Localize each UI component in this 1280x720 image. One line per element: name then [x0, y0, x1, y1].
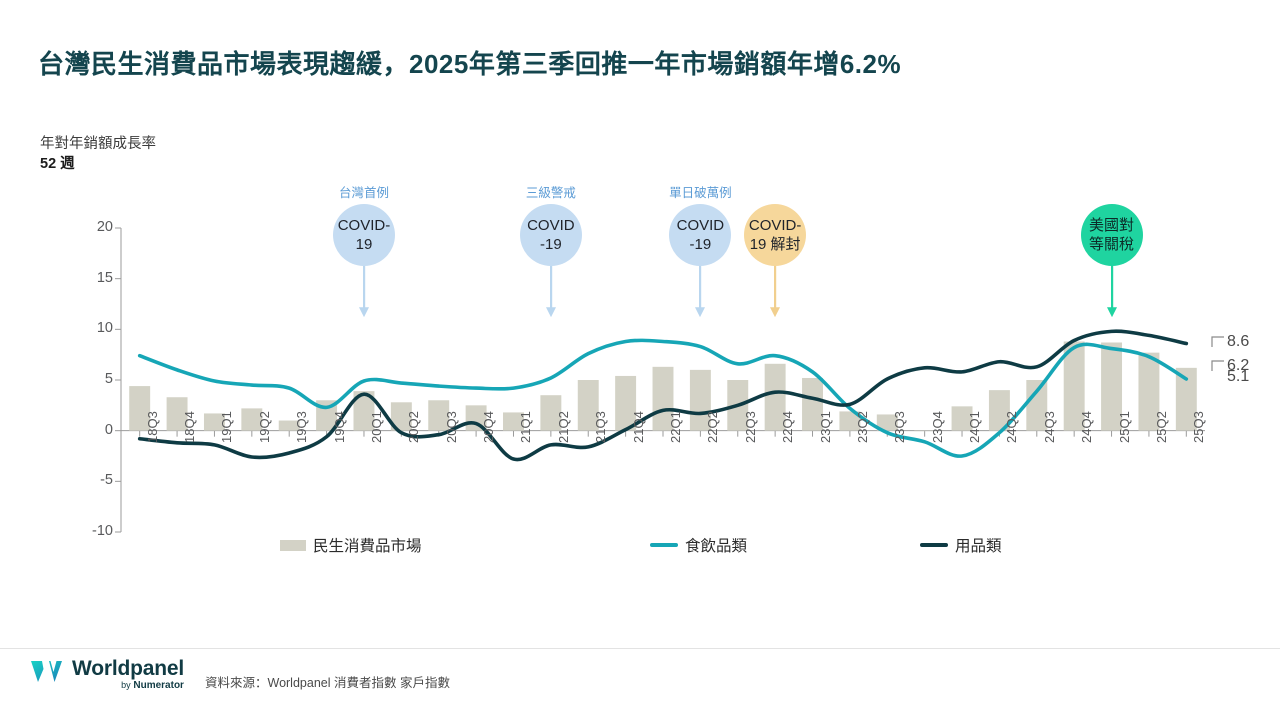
x-axis-label: 23Q3 [892, 411, 907, 443]
axis-caption-line2: 52 週 [40, 154, 156, 174]
annotation-caption: 三級警戒 [491, 182, 611, 201]
legend-swatch-line-icon [650, 543, 678, 547]
annotation-bubble-label: COVID-19 [677, 216, 725, 254]
legend-label: 民生消費品市場 [313, 534, 422, 556]
x-axis-label: 19Q1 [219, 411, 234, 443]
bottom-band [0, 706, 1280, 720]
x-axis-label: 18Q3 [145, 411, 160, 443]
y-axis-label: 10 [67, 320, 113, 336]
leader-bracket [1211, 359, 1227, 373]
annotation-arrow-shaft [699, 262, 701, 308]
x-axis-label: 20Q1 [369, 411, 384, 443]
annotation-arrow-head [359, 307, 369, 317]
x-axis-label: 22Q2 [705, 411, 720, 443]
legend-item[interactable]: 民生消費品市場 [280, 534, 422, 556]
legend-item[interactable]: 用品類 [920, 534, 1002, 556]
annotation-bubble-label: 美國對等關稅 [1089, 216, 1134, 254]
x-axis-label: 21Q1 [518, 411, 533, 443]
annotation-bubble[interactable]: COVID-19 解封 [744, 204, 806, 266]
x-axis-label: 22Q4 [780, 411, 795, 443]
x-axis-label: 24Q2 [1004, 411, 1019, 443]
y-axis-label: 20 [67, 219, 113, 235]
end-value-label: 8.6 [1227, 333, 1249, 351]
worldpanel-logo: Worldpanel by Numerator [30, 658, 184, 691]
annotation-arrow-shaft [1111, 262, 1113, 308]
x-axis-label: 23Q4 [930, 411, 945, 443]
annotation-caption: 台灣首例 [304, 182, 424, 201]
x-axis-label: 21Q2 [556, 411, 571, 443]
annotation-caption: 單日破萬例 [640, 182, 760, 201]
leader-bracket-path [1212, 361, 1224, 371]
annotation-bubble[interactable]: COVID-19 [520, 204, 582, 266]
annotation-bubble-label: COVID-19 [338, 216, 391, 254]
annotation-arrow [1104, 262, 1120, 317]
annotation-arrow [692, 262, 708, 317]
leader-bracket [1211, 335, 1227, 349]
end-value-label: 5.1 [1227, 368, 1249, 386]
x-axis-label: 23Q1 [818, 411, 833, 443]
annotation-arrow [543, 262, 559, 317]
annotation-arrow-shaft [363, 262, 365, 308]
legend-label: 用品類 [955, 534, 1002, 556]
annotation-arrow-shaft [774, 262, 776, 308]
annotation-bubble-label: COVID-19 [527, 216, 575, 254]
annotation-arrow-shaft [550, 262, 552, 308]
annotation-arrow-head [546, 307, 556, 317]
annotation-bubble-label: COVID-19 解封 [749, 216, 802, 254]
chart-plot-area: 20151050-5-1018Q318Q419Q119Q219Q319Q420Q… [95, 222, 1213, 572]
annotation-arrow-head [1107, 307, 1117, 317]
x-axis-label: 21Q4 [631, 411, 646, 443]
y-axis-label: -10 [67, 523, 113, 539]
chart-svg [95, 222, 1213, 572]
x-axis-label: 19Q3 [294, 411, 309, 443]
x-axis-label: 25Q3 [1191, 411, 1206, 443]
leader-bracket-path [1212, 337, 1224, 347]
annotation-arrow [767, 262, 783, 317]
legend-item[interactable]: 食飲品類 [650, 534, 747, 556]
x-axis-label: 19Q2 [257, 411, 272, 443]
x-axis-label: 24Q1 [967, 411, 982, 443]
annotation-arrow [356, 262, 372, 317]
legend-swatch-line-icon [920, 543, 948, 547]
footer-divider [0, 648, 1280, 649]
chart-legend: 民生消費品市場食飲品類用品類 [280, 534, 1040, 560]
page-title: 台灣民生消費品市場表現趨緩，2025年第三季回推一年市場銷額年增6.2% [38, 44, 901, 81]
logo-wordmark: Worldpanel [72, 659, 184, 679]
x-axis-label: 22Q3 [743, 411, 758, 443]
logo-subtext: by Numerator [72, 680, 184, 691]
x-axis-label: 24Q3 [1042, 411, 1057, 443]
y-axis-label: 5 [67, 371, 113, 387]
worldpanel-mark-icon [30, 658, 64, 691]
axis-caption-line1: 年對年銷額成長率 [40, 134, 156, 154]
annotation-bubble[interactable]: COVID-19 [333, 204, 395, 266]
x-axis-label: 24Q4 [1079, 411, 1094, 443]
y-axis-label: -5 [67, 472, 113, 488]
legend-label: 食飲品類 [685, 534, 747, 556]
x-axis-label: 18Q4 [182, 411, 197, 443]
annotation-bubble[interactable]: 美國對等關稅 [1081, 204, 1143, 266]
x-axis-label: 25Q2 [1154, 411, 1169, 443]
x-axis-label: 25Q1 [1117, 411, 1132, 443]
legend-swatch-bar-icon [280, 540, 306, 551]
logo-by: by [121, 680, 131, 690]
logo-numerator: Numerator [133, 680, 184, 691]
x-axis-label: 19Q4 [332, 411, 347, 443]
y-axis-label: 0 [67, 422, 113, 438]
x-axis-label: 23Q2 [855, 411, 870, 443]
axis-caption: 年對年銷額成長率 52 週 [40, 134, 156, 174]
x-axis-label: 20Q3 [444, 411, 459, 443]
annotation-arrow-head [770, 307, 780, 317]
x-axis-label: 20Q4 [481, 411, 496, 443]
source-note: 資料來源：Worldpanel 消費者指數 家戶指數 [205, 672, 450, 691]
annotation-arrow-head [695, 307, 705, 317]
y-axis-label: 15 [67, 270, 113, 286]
x-axis-label: 21Q3 [593, 411, 608, 443]
annotation-bubble[interactable]: COVID-19 [669, 204, 731, 266]
slide-root: 台灣民生消費品市場表現趨緩，2025年第三季回推一年市場銷額年增6.2% 年對年… [0, 0, 1280, 720]
x-axis-label: 22Q1 [668, 411, 683, 443]
x-axis-label: 20Q2 [406, 411, 421, 443]
